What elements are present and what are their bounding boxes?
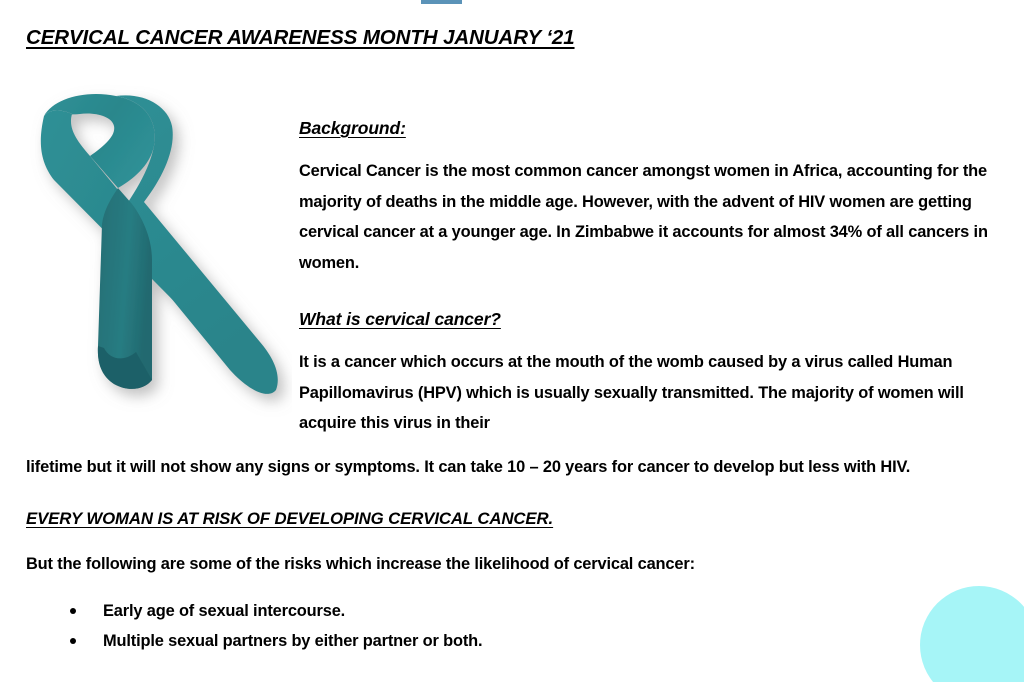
list-item: Multiple sexual partners by either partn… [26,626,991,657]
page-title: CERVICAL CANCER AWARENESS MONTH JANUARY … [26,26,575,50]
blue-accent-bar [421,0,462,4]
bullet-dot-icon [70,638,76,644]
teal-awareness-ribbon [24,84,292,440]
what-is-continuation-paragraph: lifetime but it will not show any signs … [26,452,991,483]
full-width-content-column: lifetime but it will not show any signs … [26,452,991,657]
what-is-cervical-cancer-paragraph: It is a cancer which occurs at the mouth… [299,347,989,439]
risk-factor-list: Early age of sexual intercourse. Multipl… [26,596,991,657]
what-is-cervical-cancer-heading: What is cervical cancer? [299,309,989,330]
document-page: CERVICAL CANCER AWARENESS MONTH JANUARY … [0,0,1024,682]
list-item-label: Multiple sexual partners by either partn… [103,632,482,650]
bullet-dot-icon [70,608,76,614]
background-paragraph: Cervical Cancer is the most common cance… [299,156,989,278]
indented-content-column: Background: Cervical Cancer is the most … [299,118,989,439]
every-woman-at-risk-heading: EVERY WOMAN IS AT RISK OF DEVELOPING CER… [26,509,991,529]
risk-list-lead-in: But the following are some of the risks … [26,555,991,574]
background-heading: Background: [299,118,989,139]
list-item-label: Early age of sexual intercourse. [103,602,345,620]
list-item: Early age of sexual intercourse. [26,596,991,627]
